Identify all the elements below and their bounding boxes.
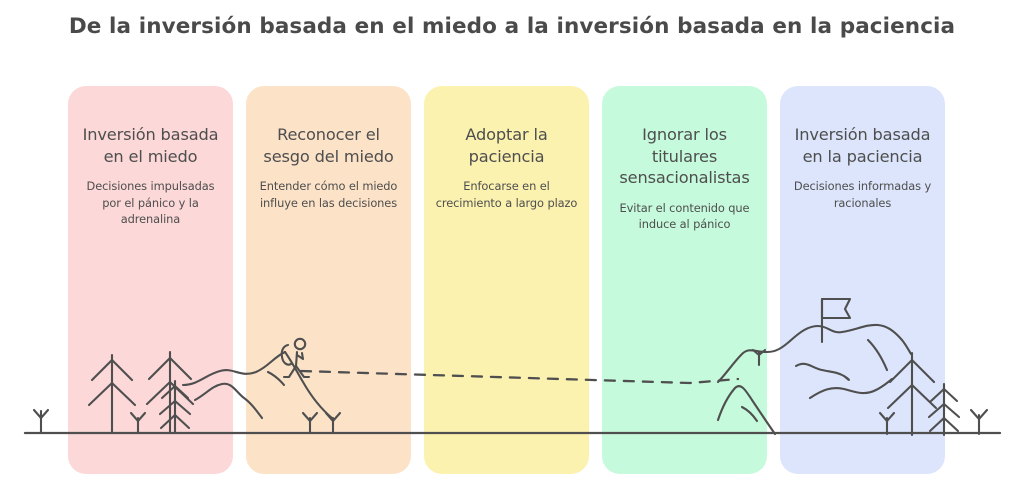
stage-card-description: Entender cómo el miedo influye en las de… xyxy=(257,178,400,210)
stage-card-description: Decisiones impulsadas por el pánico y la… xyxy=(79,178,222,227)
stage-card-fear-investing[interactable]: Inversión basada en el miedo Decisiones … xyxy=(68,86,233,474)
stage-card-title: Reconocer el sesgo del miedo xyxy=(257,124,400,167)
stage-card-description: Evitar el contenido que induce al pánico xyxy=(613,200,756,232)
stage-card-row: Inversión basada en el miedo Decisiones … xyxy=(68,86,976,474)
grass-sprout-icon xyxy=(34,410,48,432)
stage-card-title: Inversión basada en la paciencia xyxy=(791,124,934,167)
stage-card-title: Ignorar los titulares sensacionalistas xyxy=(613,124,756,189)
infographic-canvas: De la inversión basada en el miedo a la … xyxy=(0,0,1024,496)
stage-card-ignore-sensational-headlines[interactable]: Ignorar los titulares sensacionalistas E… xyxy=(602,86,767,474)
stage-card-description: Decisiones informadas y racionales xyxy=(791,178,934,210)
stage-card-title: Adoptar la paciencia xyxy=(435,124,578,167)
stage-card-patience-investing[interactable]: Inversión basada en la paciencia Decisio… xyxy=(780,86,945,474)
page-title: De la inversión basada en el miedo a la … xyxy=(0,14,1024,39)
stage-card-adopt-patience[interactable]: Adoptar la paciencia Enfocarse en el cre… xyxy=(424,86,589,474)
stage-card-description: Enfocarse en el crecimiento a largo plaz… xyxy=(435,178,578,210)
stage-card-title: Inversión basada en el miedo xyxy=(79,124,222,167)
stage-card-recognize-fear-bias[interactable]: Reconocer el sesgo del miedo Entender có… xyxy=(246,86,411,474)
